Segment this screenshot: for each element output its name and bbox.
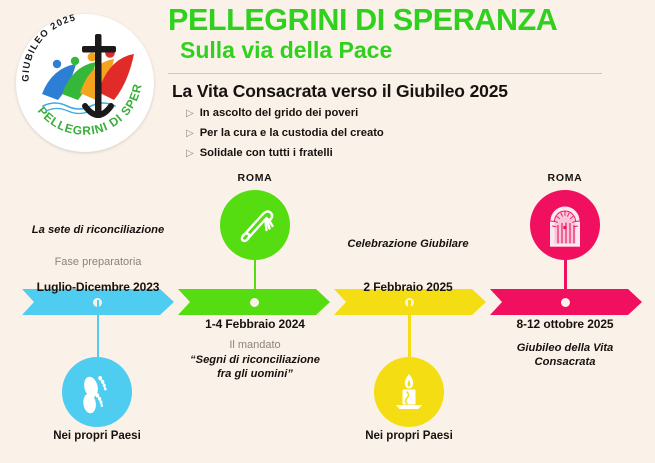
list-item-label: Solidale con tutti i fratelli <box>200 148 333 159</box>
logo-artwork: GIUBILEO 2025 PELLEGRINI DI SPERANZA <box>10 8 160 158</box>
milestone-1-stem <box>97 300 99 362</box>
milestone-1-date: Luglio-Dicembre 2023 <box>18 281 178 294</box>
milestone-4-date: 8-12 ottobre 2025 <box>490 318 640 331</box>
section-title: La Vita Consacrata verso il Giubileo 202… <box>168 81 646 102</box>
milestone-2-icon-badge[interactable] <box>220 190 290 260</box>
page-title: PELLEGRINI DI SPERANZA <box>168 4 646 36</box>
milestone-3-icon-caption: Nei propri Paesi <box>349 430 469 444</box>
list-item-label: Per la cura e la custodia del creato <box>200 128 384 139</box>
milestone-1-caption-gray: Fase preparatoria <box>18 256 178 270</box>
bullet-list: ▷ In ascolto del grido dei poveri ▷ Per … <box>168 108 646 160</box>
holy-door-icon <box>545 203 585 247</box>
milestone-3-date: 2 Febbraio 2025 <box>335 281 481 294</box>
milestone-4-icon-badge[interactable] <box>530 190 600 260</box>
page-subtitle: Sulla via della Pace <box>168 38 646 64</box>
milestone-1-icon-badge[interactable] <box>62 357 132 427</box>
scroll-icon <box>234 204 276 246</box>
milestone-4-roma-label: ROMA <box>505 173 625 184</box>
header-divider <box>168 73 602 74</box>
milestone-1-icon-caption: Nei propri Paesi <box>37 430 157 444</box>
milestone-2-roma-label: ROMA <box>195 173 315 184</box>
list-item: ▷ Per la cura e la custodia del creato <box>186 128 646 139</box>
candle-icon <box>388 370 430 414</box>
list-item-label: In ascolto del grido dei poveri <box>200 108 359 119</box>
timeline-node-2 <box>250 298 259 307</box>
milestone-3-stem <box>408 300 410 362</box>
milestone-2-caption-bold: “Segni di riconciliazione fra gli uomini… <box>187 354 323 381</box>
footprints-icon <box>75 370 119 414</box>
milestone-2-date: 1-4 Febbraio 2024 <box>175 318 335 331</box>
triangle-bullet-icon: ▷ <box>186 109 194 119</box>
timeline-node-4 <box>561 298 570 307</box>
milestone-4-caption-bold: Giubileo della Vita Consacrata <box>490 342 640 369</box>
logo-figures <box>42 48 134 100</box>
infographic-root: GIUBILEO 2025 PELLEGRINI DI SPERANZA <box>0 0 655 463</box>
list-item: ▷ Solidale con tutti i fratelli <box>186 148 646 159</box>
header-block: PELLEGRINI DI SPERANZA Sulla via della P… <box>168 4 646 169</box>
jubilee-logo: GIUBILEO 2025 PELLEGRINI DI SPERANZA <box>10 8 160 158</box>
milestone-1-caption-bold: La sete di riconciliazione <box>18 224 178 238</box>
milestone-3-caption-bold: Celebrazione Giubilare <box>335 238 481 252</box>
triangle-bullet-icon: ▷ <box>186 129 194 139</box>
list-item: ▷ In ascolto del grido dei poveri <box>186 108 646 119</box>
milestone-3-icon-badge[interactable] <box>374 357 444 427</box>
milestone-2-caption-gray: Il mandato <box>175 339 335 353</box>
triangle-bullet-icon: ▷ <box>186 149 194 159</box>
